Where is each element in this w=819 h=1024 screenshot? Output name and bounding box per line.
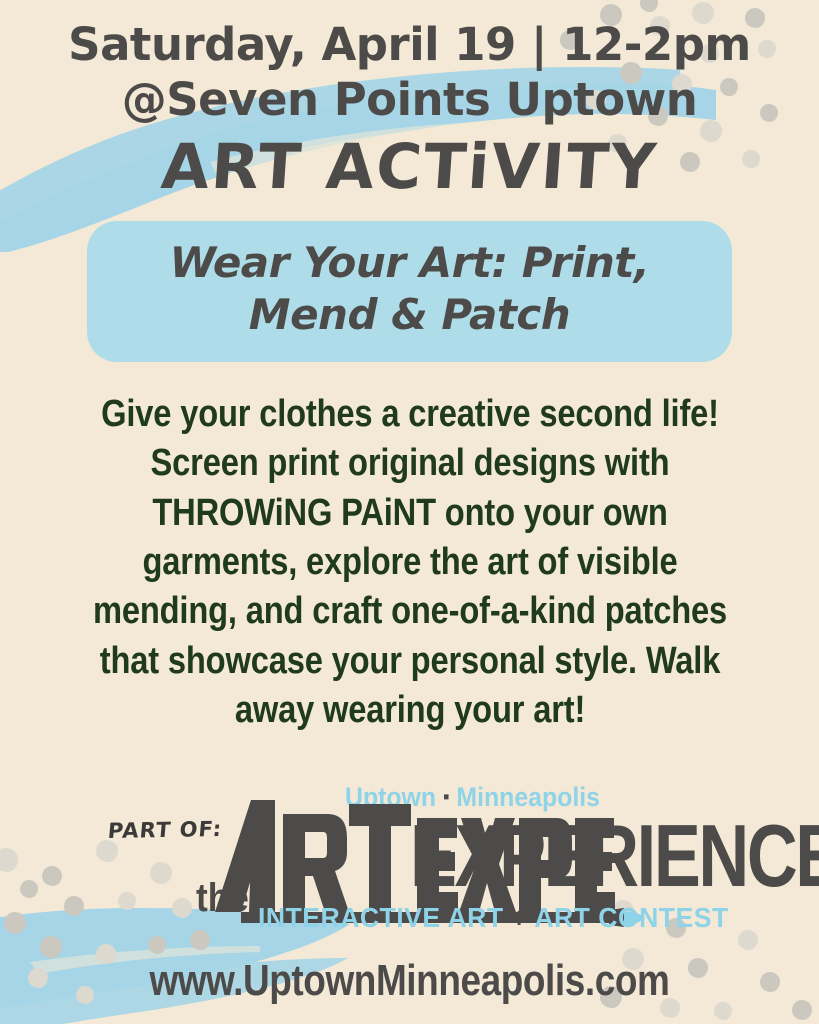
poster-header: Saturday, April 19 | 12-2pm @Seven Point… — [0, 0, 819, 199]
decorative-dot — [760, 972, 780, 992]
decorative-dot — [28, 968, 48, 988]
logo-word-experience: EXPERIENCE — [410, 812, 819, 900]
activity-name-line-1: Wear Your Art: Print, — [109, 237, 710, 290]
logo-tagline-interactive-art: INTERACTIVE ART — [258, 902, 504, 933]
activity-name-line-2: Mend & Patch — [109, 289, 710, 342]
event-poster: Saturday, April 19 | 12-2pm @Seven Point… — [0, 0, 819, 1024]
activity-name-banner: Wear Your Art: Print, Mend & Patch — [87, 221, 732, 362]
logo-tagline-bottom: INTERACTIVE ART + ART CONTEST — [258, 902, 729, 934]
plus-icon: + — [511, 902, 527, 933]
logo-tagline-art-contest: ART CONTEST — [534, 902, 728, 933]
event-date-time: Saturday, April 19 | 12-2pm — [0, 18, 819, 73]
event-description: Give your clothes a creative second life… — [83, 390, 737, 736]
website-url[interactable]: www.UptownMinneapolis.com — [66, 956, 754, 1006]
event-venue: @Seven Points Uptown — [0, 73, 819, 128]
page-title: ART ACTiVITY — [0, 134, 819, 199]
decorative-dot — [792, 1000, 812, 1020]
logo-word-the: the — [196, 878, 249, 918]
art-experience-logo: PART OF: Uptown ▪ Minneapolis — [0, 782, 819, 952]
